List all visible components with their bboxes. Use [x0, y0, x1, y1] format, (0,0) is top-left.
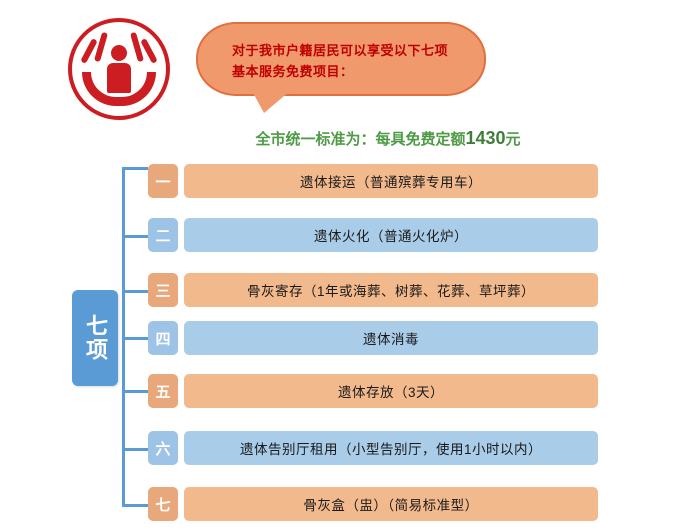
standard-suffix: 元	[506, 131, 521, 148]
service-label: 遗体接运（普通殡葬专用车）	[184, 164, 598, 198]
service-number-badge: 七	[148, 487, 178, 521]
service-row[interactable]: 六 遗体告别厅租用（小型告别厅，使用1小时以内）	[148, 431, 598, 465]
standard-amount: 1430	[465, 128, 505, 148]
bracket-arm	[122, 235, 148, 238]
bracket-arm	[122, 448, 148, 451]
bracket-arm	[122, 337, 148, 340]
bracket-cap-top	[122, 167, 148, 170]
service-row[interactable]: 四 遗体消毒	[148, 321, 598, 355]
service-number-badge: 二	[148, 218, 178, 252]
logo-person-head-icon	[111, 45, 127, 61]
bracket-arm	[122, 290, 148, 293]
service-label: 遗体火化（普通火化炉）	[184, 218, 598, 252]
standard-prefix: 全市统一标准为：每具免费定额	[255, 131, 465, 148]
service-row[interactable]: 二 遗体火化（普通火化炉）	[148, 218, 598, 252]
service-label: 遗体消毒	[184, 321, 598, 355]
standard-amount-line: 全市统一标准为：每具免费定额1430元	[208, 128, 568, 149]
bracket-cap-bottom	[122, 504, 148, 507]
service-row[interactable]: 五 遗体存放（3天）	[148, 374, 598, 408]
speech-bubble-text: 对于我市户籍居民可以享受以下七项基本服务免费项目：	[232, 40, 454, 82]
service-row[interactable]: 一 遗体接运（普通殡葬专用车）	[148, 164, 598, 198]
service-label: 骨灰盒（盅）（简易标准型）	[184, 487, 598, 521]
service-number-badge: 六	[148, 431, 178, 465]
service-label: 遗体告别厅租用（小型告别厅，使用1小时以内）	[184, 431, 598, 465]
service-label: 骨灰寄存（1年或海葬、树葬、花葬、草坪葬）	[184, 273, 598, 307]
service-label: 遗体存放（3天）	[184, 374, 598, 408]
organization-logo	[62, 14, 178, 122]
speech-bubble-tail-icon	[252, 91, 290, 113]
service-number-badge: 五	[148, 374, 178, 408]
service-row[interactable]: 七 骨灰盒（盅）（简易标准型）	[148, 487, 598, 521]
service-row[interactable]: 三 骨灰寄存（1年或海葬、树葬、花葬、草坪葬）	[148, 273, 598, 307]
service-number-badge: 三	[148, 273, 178, 307]
bracket-arm	[122, 390, 148, 393]
group-label-seven-items: 七项	[72, 290, 118, 386]
service-number-badge: 四	[148, 321, 178, 355]
service-number-badge: 一	[148, 164, 178, 198]
